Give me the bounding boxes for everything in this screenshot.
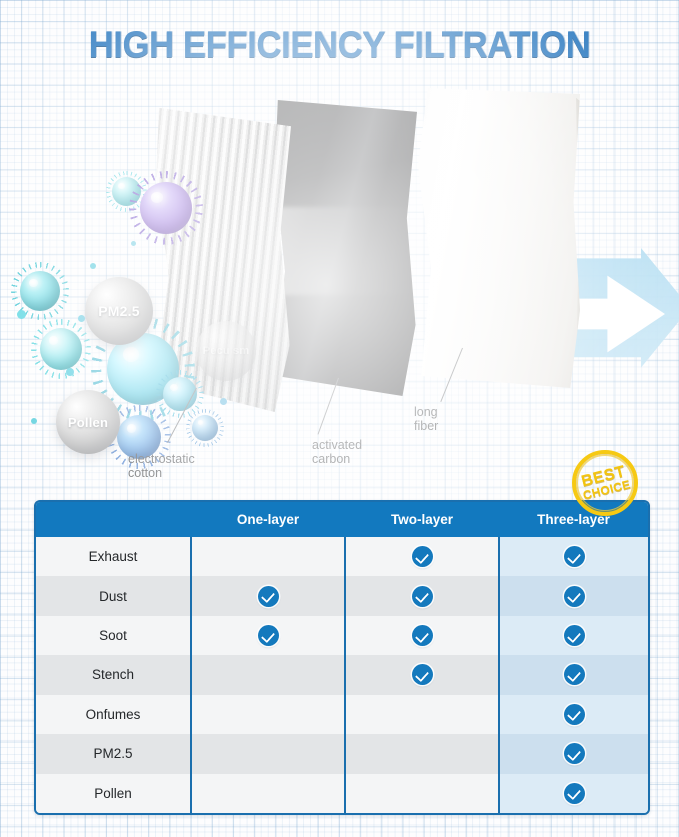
check-circle-icon [412,586,433,607]
particle-dot [17,310,26,319]
cell-three-layer [499,576,648,615]
check-circle-icon [412,546,433,567]
cell-two-layer [345,734,499,773]
cell-three-layer [499,734,648,773]
row-label-soot: Soot [36,616,191,655]
cell-two-layer [345,655,499,694]
check-circle-icon [564,743,585,764]
row-label-pollen: Pollen [36,774,191,813]
pollen-label: Pollen [68,415,108,430]
row-label-onfumes: Onfumes [36,695,191,734]
table-row: Pollen [36,774,648,813]
particle-dot [220,398,227,405]
cell-three-layer [499,774,648,813]
pollen-sphere: Pollen [56,390,120,454]
check-circle-icon [564,586,585,607]
cell-one-layer [191,576,345,615]
layer-activated-carbon [272,100,417,396]
cell-three-layer [499,537,648,576]
label-electrostatic-cotton-text: electrostatic cotton [128,452,195,480]
row-label-dust: Dust [36,576,191,615]
comparison-table: One-layer Two-layer Three-layer ExhaustD… [34,500,650,815]
table-row: PM2.5 [36,734,648,773]
check-circle-icon [258,625,279,646]
cell-three-layer [499,695,648,734]
cell-one-layer [191,537,345,576]
table-header: One-layer Two-layer Three-layer [36,502,648,537]
table-header-blank [36,502,191,537]
best-choice-badge: BEST CHOICE [572,450,638,516]
check-circle-icon [564,664,585,685]
microbe-icon [192,415,218,441]
check-circle-icon [564,546,585,567]
particle-dot [131,241,136,246]
cell-one-layer [191,774,345,813]
cell-one-layer [191,695,345,734]
filter-layers-illustration: Pecu sm PM2.5 Pollen electrostatic cotto… [0,78,679,498]
label-long-fiber-text: long fiber [414,405,438,433]
particle-dot [90,263,96,269]
page-title: HIGH EFFICIENCY FILTRATION [20,24,658,66]
cell-two-layer [345,695,499,734]
cell-one-layer [191,655,345,694]
cell-two-layer [345,774,499,813]
particle-dot [66,368,74,376]
check-circle-icon [412,664,433,685]
particle-dot [31,418,37,424]
particle-dot [78,315,85,322]
table-row: Dust [36,576,648,615]
label-activated-carbon-text: activated carbon [312,438,362,466]
cell-three-layer [499,655,648,694]
pm25-sphere: PM2.5 [85,277,153,345]
table-row: Soot [36,616,648,655]
cell-one-layer [191,734,345,773]
pm25-label: PM2.5 [98,303,139,319]
table-row: Stench [36,655,648,694]
cell-two-layer [345,576,499,615]
table-header-one-layer: One-layer [191,502,345,537]
microbe-icon [140,182,192,234]
check-circle-icon [412,625,433,646]
peculiar-smell-sphere: Pecu sm [196,321,256,381]
comparison-table-grid: One-layer Two-layer Three-layer ExhaustD… [36,502,648,813]
check-circle-icon [564,783,585,804]
row-label-stench: Stench [36,655,191,694]
cell-one-layer [191,616,345,655]
microbe-icon [40,328,82,370]
microbe-icon [20,271,60,311]
table-row: Exhaust [36,537,648,576]
row-label-exhaust: Exhaust [36,537,191,576]
row-label-pm2-5: PM2.5 [36,734,191,773]
cell-two-layer [345,616,499,655]
table-body: ExhaustDustSootStenchOnfumesPM2.5Pollen [36,537,648,813]
table-header-two-layer: Two-layer [345,502,499,537]
layer-long-fiber [418,88,580,388]
poster-canvas: HIGH EFFICIENCY FILTRATION Pecu sm [0,0,679,837]
check-circle-icon [258,586,279,607]
table-row: Onfumes [36,695,648,734]
check-circle-icon [564,704,585,725]
peculiar-smell-label: Pecu sm [203,345,250,357]
cell-two-layer [345,537,499,576]
check-circle-icon [564,625,585,646]
cell-three-layer [499,616,648,655]
